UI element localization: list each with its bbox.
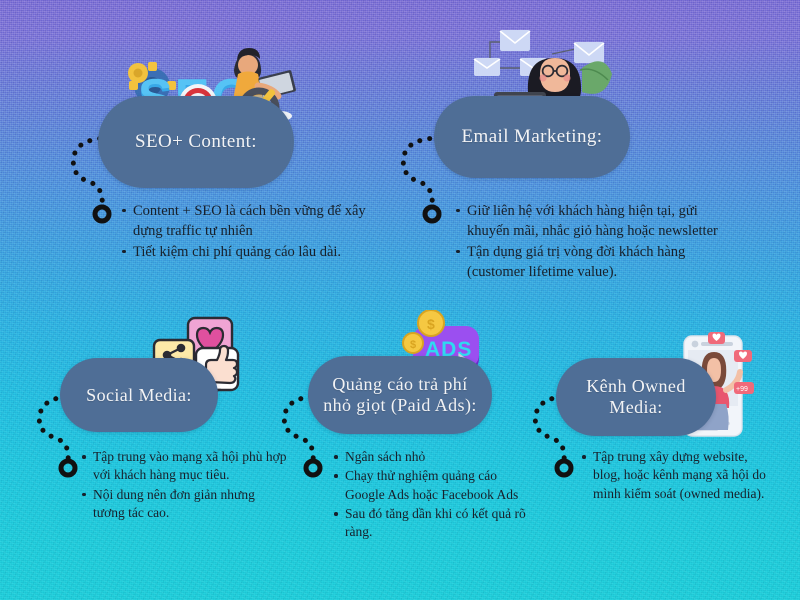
infographic-canvas: SEO SEO (0, 0, 800, 600)
section-pill-social-media[interactable]: Social Media: (60, 358, 218, 432)
list-item: Ngân sách nhỏ (345, 448, 532, 466)
section-title-owned-media: Kênh Owned Media: (586, 376, 685, 418)
list-item: Sau đó tăng dần khi có kết quả rõ ràng. (345, 505, 532, 542)
list-item: Tập trung vào mạng xã hội phù hợp với kh… (93, 448, 288, 485)
paid-ads-title-line-2: nhỏ giọt (Paid Ads): (323, 395, 477, 415)
list-item: Chạy thử nghiệm quảng cáo Google Ads hoặ… (345, 467, 532, 504)
section-title-paid-ads: Quảng cáo trả phí nhỏ giọt (Paid Ads): (323, 374, 477, 416)
section-pill-email-marketing[interactable]: Email Marketing: (434, 96, 630, 178)
paid-ads-title-line-1: Quảng cáo trả phí (332, 374, 467, 394)
section-pill-paid-ads[interactable]: Quảng cáo trả phí nhỏ giọt (Paid Ads): (308, 356, 492, 434)
section-title-social-media: Social Media: (86, 385, 192, 406)
owned-media-title-line-1: Kênh Owned (586, 376, 685, 396)
list-item: Tiết kiệm chi phí quảng cáo lâu dài. (133, 242, 368, 262)
svg-text:$: $ (427, 316, 435, 332)
bullet-list-social-media: Tập trung vào mạng xã hội phù hợp với kh… (78, 448, 288, 523)
owned-media-title-line-2: Media: (609, 397, 662, 417)
svg-text:$: $ (410, 339, 416, 351)
svg-text:+99: +99 (736, 386, 748, 393)
list-item: Tận dụng giá trị vòng đời khách hàng (cu… (467, 242, 720, 282)
list-item: Content + SEO là cách bền vững để xây dự… (133, 201, 368, 241)
section-pill-owned-media[interactable]: Kênh Owned Media: (556, 358, 716, 436)
bullet-list-seo-content: Content + SEO là cách bền vững để xây dự… (118, 201, 368, 263)
list-item: Giữ liên hệ với khách hàng hiện tại, gửi… (467, 201, 720, 241)
section-title-email-marketing: Email Marketing: (462, 126, 603, 148)
bullet-list-email-marketing: Giữ liên hệ với khách hàng hiện tại, gửi… (452, 201, 720, 283)
bullet-list-owned-media: Tập trung xây dựng website, blog, hoặc k… (578, 448, 774, 504)
list-item: Tập trung xây dựng website, blog, hoặc k… (593, 448, 774, 503)
plant-icon (580, 61, 612, 94)
list-item: Nội dung nên đơn giản nhưng tương tác ca… (93, 486, 288, 523)
section-pill-seo-content[interactable]: SEO+ Content: (98, 96, 294, 188)
bullet-list-paid-ads: Ngân sách nhỏ Chạy thử nghiệm quảng cáo … (330, 448, 532, 543)
section-title-seo-content: SEO+ Content: (135, 131, 257, 153)
